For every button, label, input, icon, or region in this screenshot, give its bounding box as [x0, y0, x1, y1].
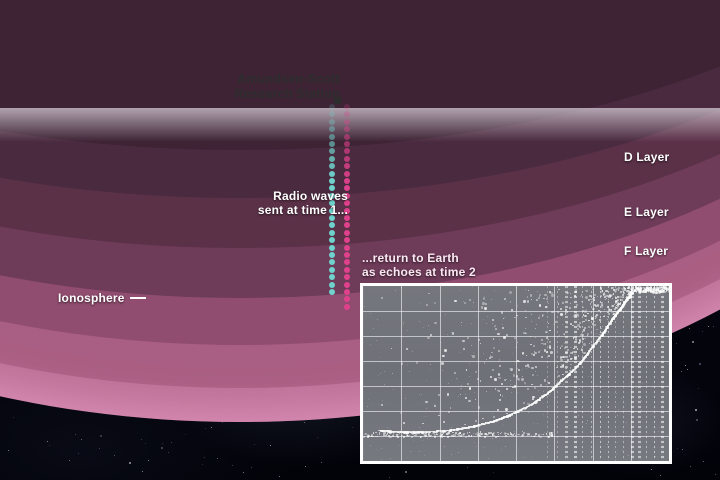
f-layer-label: F Layer — [624, 244, 668, 258]
infographic-canvas: Amundsen-Scott Research Station Radio wa… — [0, 0, 720, 480]
d-layer-label: D Layer — [624, 150, 669, 164]
ionogram-plot-area — [363, 286, 669, 461]
outgoing-wave-label: Radio waves sent at time 1... — [190, 189, 348, 217]
atmosphere-haze — [0, 130, 720, 200]
ionogram-inset — [360, 283, 672, 464]
returning-echo-label: ...return to Earth as echoes at time 2 — [362, 251, 552, 279]
e-layer-label: E Layer — [624, 205, 669, 219]
station-label: Amundsen-Scott Research Station — [160, 72, 340, 102]
ionosphere-label-group: Ionosphere — [58, 291, 146, 305]
ionosphere-label-text: Ionosphere — [58, 291, 125, 305]
leader-line-icon — [130, 297, 146, 299]
antarctica-map — [0, 0, 720, 200]
